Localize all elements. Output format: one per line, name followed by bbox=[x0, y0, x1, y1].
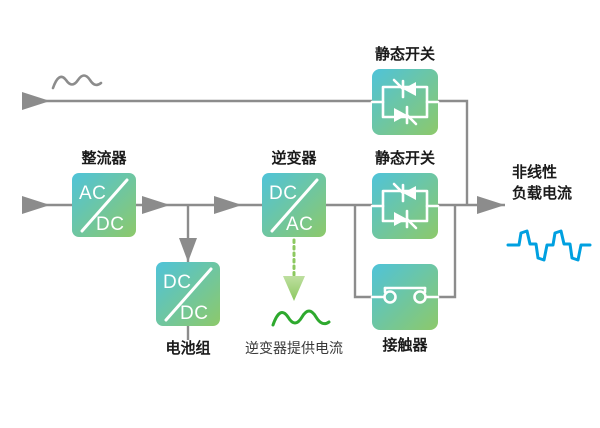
inverter-supply-label: 逆变器提供电流 bbox=[245, 340, 343, 356]
arrowhead-load-output bbox=[477, 196, 505, 214]
ups-block-diagram: AC DC 整流器 DC DC 电池组 DC AC 逆变器 逆变器提供电流 bbox=[0, 0, 600, 428]
block-battery-converter[interactable]: DC DC bbox=[156, 262, 220, 326]
rectifier-label: 整流器 bbox=[81, 149, 127, 167]
rectifier-line2: DC bbox=[96, 214, 124, 235]
green-sine-wave-icon bbox=[273, 311, 329, 325]
wire-contactor-left bbox=[355, 205, 372, 297]
wire-contactor-right bbox=[438, 205, 455, 297]
arrowhead-dc-bus-1 bbox=[142, 196, 170, 214]
block-static-switch-output[interactable] bbox=[372, 173, 438, 239]
inverter-line1: DC bbox=[269, 183, 297, 204]
output-label-line1: 非线性 bbox=[512, 163, 557, 181]
rectifier-line1: AC bbox=[79, 183, 106, 204]
arrowhead-battery-branch bbox=[179, 238, 197, 262]
mains-sine-wave-icon bbox=[53, 76, 101, 89]
battery-label: 电池组 bbox=[165, 339, 210, 357]
arrowhead-dc-bus-2 bbox=[214, 196, 242, 214]
static-switch-bypass-label: 静态开关 bbox=[375, 45, 435, 63]
block-static-switch-bypass[interactable] bbox=[372, 69, 438, 135]
output-label-line2: 负载电流 bbox=[512, 184, 572, 202]
block-contactor[interactable] bbox=[372, 264, 438, 330]
nonlinear-load-current-wave-icon bbox=[508, 231, 590, 260]
green-arrowhead-icon bbox=[283, 276, 305, 301]
static-switch-output-label: 静态开关 bbox=[375, 149, 435, 167]
inverter-label: 逆变器 bbox=[271, 149, 317, 167]
arrowhead-bypass-input bbox=[22, 92, 50, 110]
wire-bypass-to-output bbox=[438, 101, 467, 205]
inverter-line2: AC bbox=[286, 214, 313, 235]
block-inverter[interactable]: DC AC bbox=[262, 173, 326, 237]
contactor-label: 接触器 bbox=[382, 336, 428, 354]
inverter-supply-arrow bbox=[283, 240, 305, 301]
arrowhead-mains-input bbox=[22, 196, 50, 214]
block-rectifier[interactable]: AC DC bbox=[72, 173, 136, 237]
diagram-canvas: AC DC 整流器 DC DC 电池组 DC AC 逆变器 逆变器提供电流 bbox=[0, 0, 600, 428]
battery-line2: DC bbox=[180, 303, 208, 324]
battery-line1: DC bbox=[163, 272, 191, 293]
